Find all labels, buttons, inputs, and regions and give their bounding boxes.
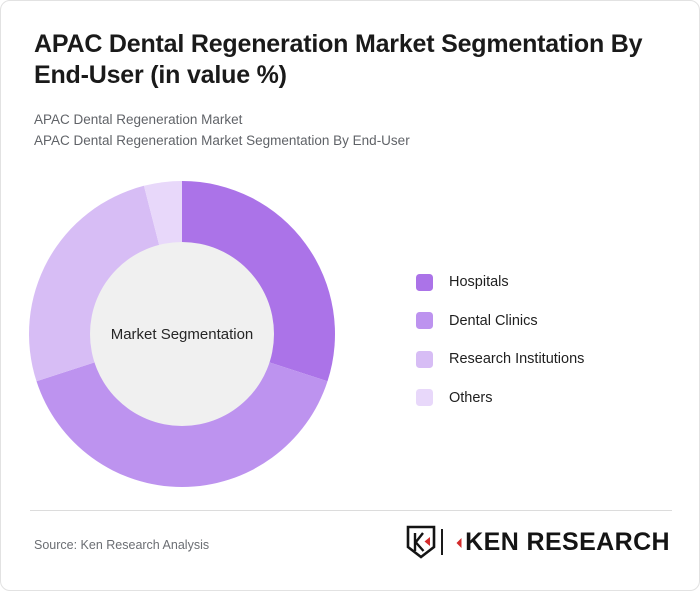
brand-k-accent-icon (450, 534, 465, 552)
source-note: Source: Ken Research Analysis (34, 538, 209, 552)
legend-swatch (416, 389, 433, 406)
legend-item[interactable]: Dental Clinics (416, 302, 584, 341)
legend-item[interactable]: Others (416, 379, 584, 418)
chart-header: APAC Dental Regeneration Market Segmenta… (34, 29, 659, 151)
legend-item[interactable]: Hospitals (416, 263, 584, 302)
footer-divider (30, 510, 672, 511)
ken-research-logo: KEN RESEARCH (406, 524, 670, 560)
chart-card: APAC Dental Regeneration Market Segmenta… (0, 0, 700, 591)
chart-body: Market Segmentation HospitalsDental Clin… (1, 161, 700, 501)
breadcrumb-segmentation: APAC Dental Regeneration Market Segmenta… (34, 131, 659, 152)
legend-swatch (416, 312, 433, 329)
breadcrumb-market: APAC Dental Regeneration Market (34, 110, 659, 131)
shield-logo-icon (406, 525, 436, 559)
legend-label: Others (449, 390, 493, 406)
legend-label: Dental Clinics (449, 313, 538, 329)
subtitle-block: APAC Dental Regeneration Market APAC Den… (34, 110, 659, 151)
donut-chart: Market Segmentation (29, 181, 335, 487)
logo-divider (441, 529, 443, 555)
donut-hole (90, 242, 274, 426)
donut-svg (29, 181, 335, 487)
brand-word-text: KEN RESEARCH (465, 528, 670, 556)
legend-swatch (416, 274, 433, 291)
legend-label: Hospitals (449, 274, 509, 290)
legend-swatch (416, 351, 433, 368)
legend-item[interactable]: Research Institutions (416, 340, 584, 379)
brand-wordmark: KEN RESEARCH (450, 530, 670, 555)
page-title: APAC Dental Regeneration Market Segmenta… (34, 29, 659, 90)
legend-label: Research Institutions (449, 351, 584, 367)
chart-legend: HospitalsDental ClinicsResearch Institut… (416, 263, 584, 417)
